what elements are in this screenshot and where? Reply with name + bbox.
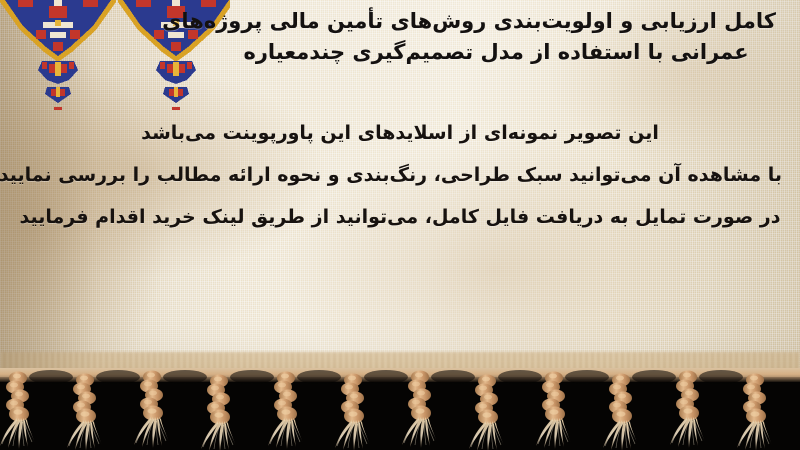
carpet-fringe (0, 368, 800, 450)
slide-text-layer: کامل ارزیابی و اولویت‌بندی روش‌های تأمین… (0, 0, 800, 374)
slide-canvas: کامل ارزیابی و اولویت‌بندی روش‌های تأمین… (0, 0, 800, 450)
slide-body: این تصویر نمونه‌ای از اسلایدهای این پاور… (18, 112, 782, 238)
slide-title: کامل ارزیابی و اولویت‌بندی روش‌های تأمین… (216, 6, 776, 68)
body-line-3: در صورت تمایل به دریافت فایل کامل، می‌تو… (18, 196, 782, 238)
body-line-2: با مشاهده آن می‌توانید سبک طراحی، رنگ‌بن… (18, 154, 782, 196)
body-line-1: این تصویر نمونه‌ای از اسلایدهای این پاور… (18, 112, 782, 154)
title-line-2: عمرانی با استفاده از مدل تصمیم‌گیری چندم… (216, 37, 776, 68)
title-line-1: کامل ارزیابی و اولویت‌بندی روش‌های تأمین… (216, 6, 776, 37)
